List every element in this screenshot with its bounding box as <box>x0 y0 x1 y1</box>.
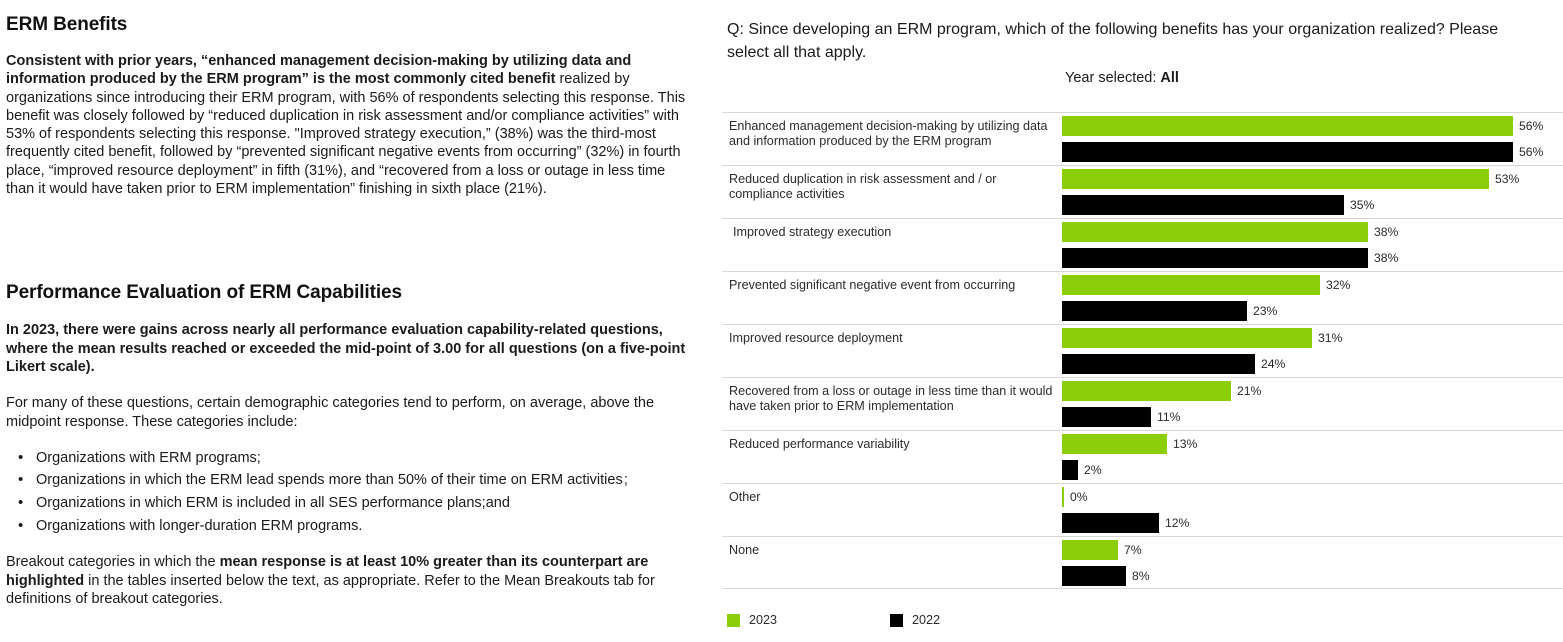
bar-rect <box>1062 381 1231 401</box>
performance-evaluation-heading: Performance Evaluation of ERM Capabiliti… <box>6 282 690 304</box>
bar-value-label: 23% <box>1253 304 1277 318</box>
bar-category-label: Prevented significant negative event fro… <box>729 278 1057 293</box>
breakout-text-b: in the tables inserted below the text, a… <box>6 573 655 607</box>
bar-chart-row[interactable]: Other0%12% <box>722 483 1563 536</box>
clipped-text-remnant: ········· ········· <box>0 0 700 5</box>
bar-group: 31%24% <box>1062 325 1563 378</box>
bar-group: 53%35% <box>1062 166 1563 219</box>
chart-panel: Q: Since developing an ERM program, whic… <box>722 0 1563 642</box>
bar-chart-row[interactable]: Enhanced management decision-making by u… <box>722 112 1563 165</box>
list-item: Organizations with ERM programs; <box>36 447 690 470</box>
bar-rect <box>1062 566 1126 586</box>
breakout-categories-paragraph: Breakout categories in which the mean re… <box>6 553 690 608</box>
bar-rect <box>1062 248 1368 268</box>
bar-value-label: 56% <box>1519 119 1543 133</box>
bar-value-label: 21% <box>1237 384 1261 398</box>
bar-group: 21%11% <box>1062 378 1563 431</box>
performance-lead-paragraph: In 2023, there were gains across nearly … <box>6 321 690 376</box>
bar-value-label: 32% <box>1326 278 1350 292</box>
list-item: Organizations in which ERM is included i… <box>36 492 690 515</box>
bar-rect <box>1062 142 1513 162</box>
bar-value-label: 11% <box>1157 410 1181 424</box>
bar-value-label: 13% <box>1173 437 1197 451</box>
bar-group: 13%2% <box>1062 431 1563 484</box>
legend-swatch-icon <box>890 614 903 627</box>
breakout-text-a: Breakout categories in which the <box>6 554 220 570</box>
bar-rect <box>1062 195 1344 215</box>
narrative-column: ERM Benefits Consistent with prior years… <box>6 14 690 608</box>
section-spacer <box>6 198 690 282</box>
paragraph-spacer-1 <box>6 376 690 394</box>
bar-rect <box>1062 434 1167 454</box>
bar-value-label: 12% <box>1165 516 1189 530</box>
bar-chart-row[interactable]: Reduced duplication in risk assessment a… <box>722 165 1563 218</box>
demographic-categories-paragraph: For many of these questions, certain dem… <box>6 394 690 431</box>
erm-benefits-heading: ERM Benefits <box>6 14 690 36</box>
bar-rect <box>1062 354 1255 374</box>
bar-category-label: Recovered from a loss or outage in less … <box>729 384 1057 413</box>
list-item: Organizations with longer-duration ERM p… <box>36 515 690 538</box>
year-selected-label: Year selected: <box>1065 70 1160 86</box>
bar-chart-row[interactable]: None7%8% <box>722 536 1563 589</box>
bar-rect <box>1062 328 1312 348</box>
bar-value-label: 8% <box>1132 569 1150 583</box>
bar-chart-row[interactable]: Reduced performance variability13%2% <box>722 430 1563 483</box>
bar-value-label: 2% <box>1084 463 1102 477</box>
legend-swatch-icon <box>727 614 740 627</box>
bar-category-label: Reduced duplication in risk assessment a… <box>729 172 1057 201</box>
bar-value-label: 7% <box>1124 543 1142 557</box>
bar-rect <box>1062 169 1489 189</box>
bar-rect <box>1062 513 1159 533</box>
erm-benefits-paragraph: Consistent with prior years, “enhanced m… <box>6 52 690 198</box>
bar-chart: Enhanced management decision-making by u… <box>722 112 1563 589</box>
bar-value-label: 35% <box>1350 198 1374 212</box>
bar-category-label: Improved strategy execution <box>733 225 1061 240</box>
list-item: Organizations in which the ERM lead spen… <box>36 469 690 492</box>
bar-category-label: Reduced performance variability <box>729 437 1057 452</box>
bar-value-label: 38% <box>1374 251 1398 265</box>
bar-rect <box>1062 301 1247 321</box>
bar-chart-row[interactable]: Improved strategy execution38%38% <box>722 218 1563 271</box>
bar-group: 7%8% <box>1062 537 1563 590</box>
bar-value-label: 31% <box>1318 331 1342 345</box>
bar-category-label: Other <box>729 490 1057 505</box>
bar-value-label: 24% <box>1261 357 1285 371</box>
screenshot-root: ········· ········· ERM Benefits Consist… <box>0 0 1563 642</box>
bar-value-label: 0% <box>1070 490 1088 504</box>
bar-group: 32%23% <box>1062 272 1563 325</box>
bar-rect <box>1062 275 1320 295</box>
bar-group: 38%38% <box>1062 219 1563 272</box>
erm-benefits-paragraph-rest: realized by organizations since introduc… <box>6 71 685 197</box>
bar-group: 56%56% <box>1062 113 1563 166</box>
bar-value-label: 56% <box>1519 145 1543 159</box>
bar-chart-row[interactable]: Recovered from a loss or outage in less … <box>722 377 1563 430</box>
paragraph-spacer-2 <box>6 431 690 447</box>
bar-category-label: Improved resource deployment <box>729 331 1057 346</box>
bar-rect <box>1062 460 1078 480</box>
legend-item-2022[interactable]: 2022 <box>890 613 940 627</box>
year-selected-value: All <box>1160 70 1179 86</box>
legend-label: 2023 <box>749 613 777 627</box>
legend-item-2023[interactable]: 2023 <box>727 613 777 627</box>
bar-chart-row[interactable]: Prevented significant negative event fro… <box>722 271 1563 324</box>
paragraph-spacer-3 <box>6 537 690 553</box>
bar-rect <box>1062 407 1151 427</box>
bar-category-label: Enhanced management decision-making by u… <box>729 119 1057 148</box>
bar-group: 0%12% <box>1062 484 1563 537</box>
legend-label: 2022 <box>912 613 940 627</box>
bar-chart-row[interactable]: Improved resource deployment31%24% <box>722 324 1563 377</box>
bar-value-label: 38% <box>1374 225 1398 239</box>
demographic-categories-list: Organizations with ERM programs; Organiz… <box>6 447 690 537</box>
chart-legend: 2023 2022 <box>722 613 1563 635</box>
chart-question: Q: Since developing an ERM program, whic… <box>727 18 1517 64</box>
year-selected-indicator: Year selected: All <box>727 70 1517 86</box>
bar-rect <box>1062 540 1118 560</box>
bar-rect <box>1062 116 1513 136</box>
erm-benefits-paragraph-bold: Consistent with prior years, “enhanced m… <box>6 53 631 87</box>
bar-rect <box>1062 487 1064 507</box>
bar-category-label: None <box>729 543 1057 558</box>
bar-value-label: 53% <box>1495 172 1519 186</box>
bar-rect <box>1062 222 1368 242</box>
